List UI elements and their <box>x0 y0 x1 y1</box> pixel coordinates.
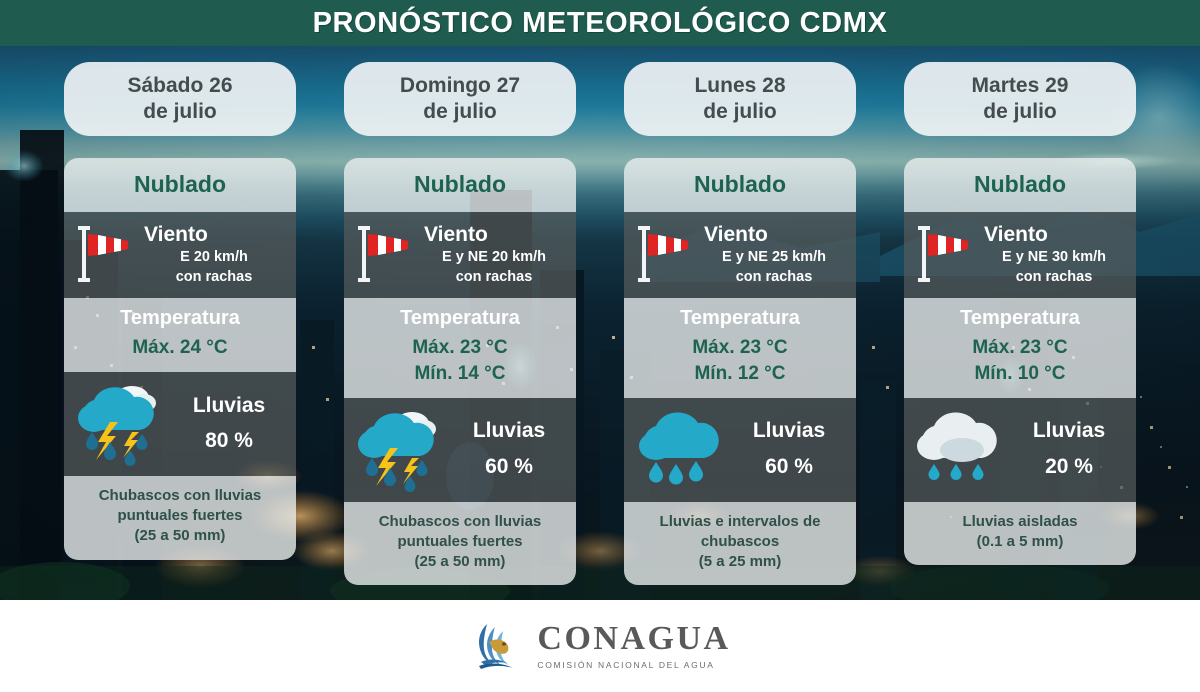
rain-description-3: Lluvias e intervalos de chubascos (5 a 2… <box>624 502 856 586</box>
wind-gusts-2: con rachas <box>422 268 566 286</box>
day-header-1: Sábado 26 de julio <box>64 62 296 136</box>
day-header-4: Martes 29 de julio <box>904 62 1136 136</box>
temperature-max-3: Máx. 23 °C <box>630 335 850 361</box>
day-panel-1: Nublado <box>64 158 296 559</box>
rain-label-1: Lluvias <box>170 394 288 417</box>
wind-label-4: Viento <box>982 223 1126 246</box>
temperature-section-1: Temperatura Máx. 24 °C <box>64 298 296 372</box>
conagua-water-eagle-icon <box>469 618 525 674</box>
rain-section-2: Lluvias 60 % <box>344 398 576 502</box>
temperature-label-4: Temperatura <box>910 307 1130 330</box>
forecast-card-day-3: Lunes 28 de julio Nublado <box>624 62 856 600</box>
temperature-label-1: Temperatura <box>70 307 290 330</box>
windsock-icon <box>916 222 974 286</box>
wind-gusts-1: con rachas <box>142 268 286 286</box>
forecast-card-day-2: Domingo 27 de julio Nublado <box>344 62 576 600</box>
sky-condition-3: Nublado <box>624 158 856 212</box>
day-header-3: Lunes 28 de julio <box>624 62 856 136</box>
windsock-icon <box>356 222 414 286</box>
day-month-line-1: de julio <box>72 99 288 125</box>
rain-section-4: Lluvias 20 % <box>904 398 1136 502</box>
weather-forecast-infographic: PRONÓSTICO METEOROLÓGICO CDMX <box>0 0 1200 692</box>
light-rain-cloud-icon <box>910 406 1006 492</box>
wind-label-2: Viento <box>422 223 566 246</box>
rain-probability-3: 60 % <box>730 455 848 478</box>
wind-section-2: Viento E y NE 20 km/h con rachas <box>344 212 576 298</box>
rain-probability-2: 60 % <box>450 455 568 478</box>
day-header-2: Domingo 27 de julio <box>344 62 576 136</box>
wind-value-4: E y NE 30 km/h <box>982 248 1126 266</box>
desc-line-1-c: (25 a 50 mm) <box>72 526 288 546</box>
day-panel-3: Nublado <box>624 158 856 585</box>
conagua-logo-subtitle: COMISIÓN NACIONAL DEL AGUA <box>537 660 730 670</box>
temperature-min-4: Mín. 10 °C <box>910 361 1130 387</box>
day-date-line-1: Sábado 26 <box>72 73 288 99</box>
rain-description-2: Chubascos con lluvias puntuales fuertes … <box>344 502 576 586</box>
wind-value-3: E y NE 25 km/h <box>702 248 846 266</box>
windsock-icon <box>636 222 694 286</box>
day-panel-4: Nublado <box>904 158 1136 565</box>
thunderstorm-icon <box>350 406 446 492</box>
title-bar: PRONÓSTICO METEOROLÓGICO CDMX <box>0 0 1200 46</box>
wind-label-1: Viento <box>142 223 286 246</box>
day-panel-2: Nublado <box>344 158 576 585</box>
temperature-min-3: Mín. 12 °C <box>630 361 850 387</box>
sky-condition-1: Nublado <box>64 158 296 212</box>
day-date-line-4: Martes 29 <box>912 73 1128 99</box>
day-month-line-2: de julio <box>352 99 568 125</box>
wind-section-1: Viento E 20 km/h con rachas <box>64 212 296 298</box>
desc-line-3-a: Lluvias e intervalos de <box>632 512 848 532</box>
conagua-logo: CONAGUA COMISIÓN NACIONAL DEL AGUA <box>469 618 730 674</box>
wind-gusts-3: con rachas <box>702 268 846 286</box>
rain-probability-1: 80 % <box>170 429 288 452</box>
desc-line-3-b: chubascos <box>632 532 848 552</box>
wind-value-2: E y NE 20 km/h <box>422 248 566 266</box>
desc-line-4-b: (0.1 a 5 mm) <box>912 532 1128 552</box>
day-month-line-4: de julio <box>912 99 1128 125</box>
desc-line-2-a: Chubascos con lluvias <box>352 512 568 532</box>
forecast-cards-container: Sábado 26 de julio Nublado <box>0 46 1200 600</box>
desc-line-3-c: (5 a 25 mm) <box>632 552 848 572</box>
temperature-label-2: Temperatura <box>350 307 570 330</box>
sky-condition-2: Nublado <box>344 158 576 212</box>
rain-section-3: Lluvias 60 % <box>624 398 856 502</box>
wind-section-4: Viento E y NE 30 km/h con rachas <box>904 212 1136 298</box>
temperature-max-2: Máx. 23 °C <box>350 335 570 361</box>
conagua-logo-name: CONAGUA <box>537 622 730 656</box>
rain-label-2: Lluvias <box>450 419 568 442</box>
desc-line-2-c: (25 a 50 mm) <box>352 552 568 572</box>
temperature-max-1: Máx. 24 °C <box>70 335 290 361</box>
windsock-icon <box>76 222 134 286</box>
desc-line-2-b: puntuales fuertes <box>352 532 568 552</box>
sky-condition-4: Nublado <box>904 158 1136 212</box>
forecast-card-day-4: Martes 29 de julio Nublado <box>904 62 1136 600</box>
day-date-line-2: Domingo 27 <box>352 73 568 99</box>
temperature-section-3: Temperatura Máx. 23 °C Mín. 12 °C <box>624 298 856 397</box>
rain-description-1: Chubascos con lluvias puntuales fuertes … <box>64 476 296 560</box>
day-month-line-3: de julio <box>632 99 848 125</box>
thunderstorm-icon <box>70 380 166 466</box>
wind-section-3: Viento E y NE 25 km/h con rachas <box>624 212 856 298</box>
rain-cloud-icon <box>630 406 726 492</box>
desc-line-1-a: Chubascos con lluvias <box>72 486 288 506</box>
page-title: PRONÓSTICO METEOROLÓGICO CDMX <box>313 7 888 40</box>
wind-label-3: Viento <box>702 223 846 246</box>
desc-line-1-b: puntuales fuertes <box>72 506 288 526</box>
forecast-card-day-1: Sábado 26 de julio Nublado <box>64 62 296 600</box>
desc-line-4-a: Lluvias aisladas <box>912 512 1128 532</box>
day-date-line-3: Lunes 28 <box>632 73 848 99</box>
rain-label-4: Lluvias <box>1010 419 1128 442</box>
footer-bar: CONAGUA COMISIÓN NACIONAL DEL AGUA <box>0 600 1200 692</box>
temperature-label-3: Temperatura <box>630 307 850 330</box>
rain-probability-4: 20 % <box>1010 455 1128 478</box>
temperature-max-4: Máx. 23 °C <box>910 335 1130 361</box>
wind-value-1: E 20 km/h <box>142 248 286 266</box>
temperature-min-2: Mín. 14 °C <box>350 361 570 387</box>
temperature-section-4: Temperatura Máx. 23 °C Mín. 10 °C <box>904 298 1136 397</box>
rain-section-1: Lluvias 80 % <box>64 372 296 476</box>
rain-description-4: Lluvias aisladas (0.1 a 5 mm) <box>904 502 1136 566</box>
wind-gusts-4: con rachas <box>982 268 1126 286</box>
temperature-section-2: Temperatura Máx. 23 °C Mín. 14 °C <box>344 298 576 397</box>
rain-label-3: Lluvias <box>730 419 848 442</box>
